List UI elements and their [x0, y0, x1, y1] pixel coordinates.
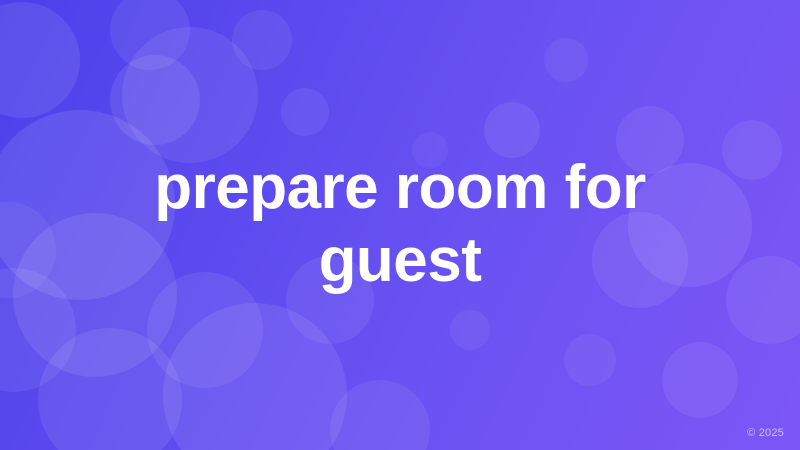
slide-content-area: prepare room for guest [0, 0, 800, 450]
slide-title: prepare room for guest [120, 152, 680, 297]
presentation-slide: prepare room for guest © 2025 [0, 0, 800, 450]
footer-copyright: © 2025 [747, 427, 784, 439]
